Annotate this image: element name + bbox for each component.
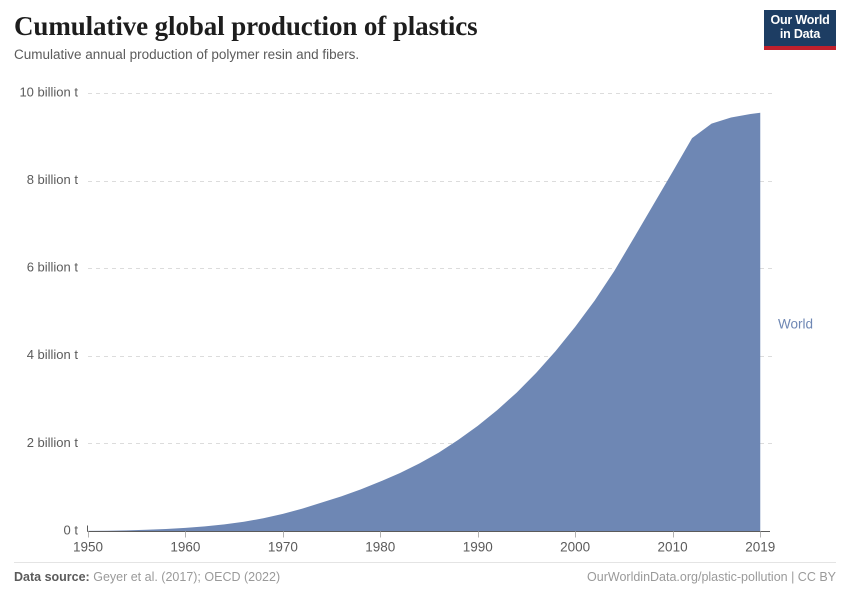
- chart-subtitle: Cumulative annual production of polymer …: [14, 46, 836, 63]
- y-axis-tick-label: 8 billion t: [27, 172, 79, 187]
- chart-footer: Data source: Geyer et al. (2017); OECD (…: [14, 562, 836, 594]
- x-axis-tick-label: 2010: [658, 540, 688, 554]
- logo-line-1: Our World: [770, 14, 829, 28]
- data-source-label: Data source:: [14, 570, 90, 584]
- page-title: Cumulative global production of plastics: [14, 10, 836, 42]
- x-axis-tick-label: 1950: [73, 540, 103, 554]
- x-axis-tick-label: 2000: [560, 540, 590, 554]
- y-axis-labels-group: 0 t2 billion t4 billion t6 billion t8 bi…: [19, 84, 78, 537]
- chart-header: Cumulative global production of plastics…: [14, 10, 836, 72]
- cumulative-plastics-area-chart[interactable]: 0 t2 billion t4 billion t6 billion t8 bi…: [0, 78, 850, 553]
- x-axis-tick-label: 1970: [268, 540, 298, 554]
- data-source-text: Geyer et al. (2017); OECD (2022): [93, 570, 280, 584]
- y-axis-tick-label: 2 billion t: [27, 435, 79, 450]
- x-axis-tick-label: 1980: [365, 540, 395, 554]
- y-axis-tick-label: 6 billion t: [27, 260, 79, 275]
- y-axis-tick-label: 0 t: [64, 522, 79, 537]
- chart-page: Cumulative global production of plastics…: [0, 0, 850, 600]
- x-axis-tick-label: 1960: [170, 540, 200, 554]
- y-axis-tick-label: 10 billion t: [19, 84, 78, 99]
- data-source: Data source: Geyer et al. (2017); OECD (…: [14, 570, 280, 584]
- x-axis-labels-group: 19501960197019801990200020102019: [73, 540, 775, 554]
- x-axis-tick-label: 1990: [463, 540, 493, 554]
- x-axis-tick-label: 2019: [745, 540, 775, 554]
- series-area-group[interactable]: [88, 113, 760, 531]
- series-legend-label-world[interactable]: World: [778, 317, 813, 332]
- series-label-group[interactable]: World: [778, 317, 813, 332]
- attribution-link[interactable]: OurWorldinData.org/plastic-pollution | C…: [587, 570, 836, 584]
- logo-line-2: in Data: [780, 28, 820, 42]
- our-world-in-data-logo[interactable]: Our World in Data: [764, 10, 836, 50]
- chart-plot-area[interactable]: 0 t2 billion t4 billion t6 billion t8 bi…: [0, 78, 850, 553]
- y-axis-tick-label: 4 billion t: [27, 347, 79, 362]
- series-area-world[interactable]: [88, 113, 760, 531]
